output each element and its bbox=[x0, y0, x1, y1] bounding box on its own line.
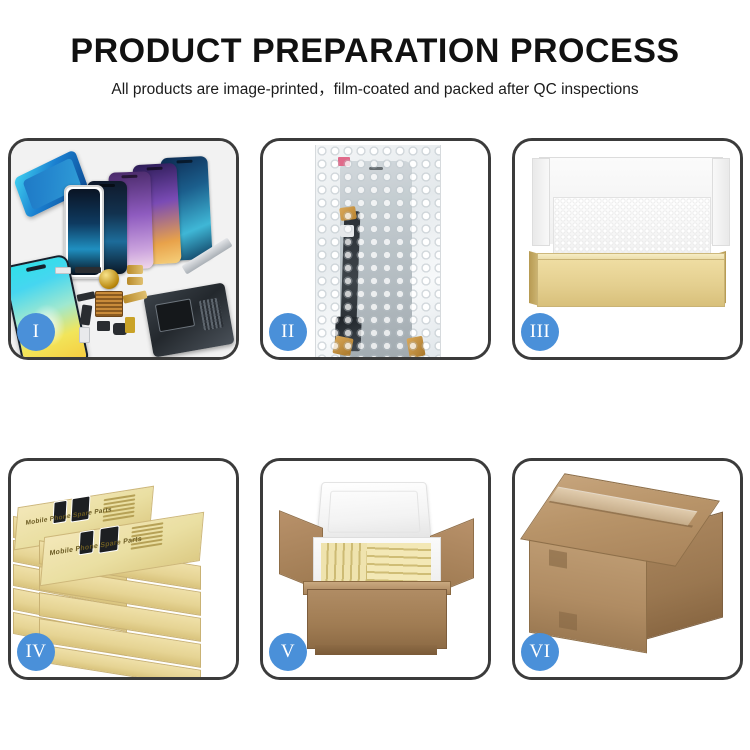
part-mesh bbox=[55, 267, 71, 274]
part-flex-2 bbox=[127, 277, 143, 285]
page-title: PRODUCT PREPARATION PROCESS bbox=[0, 34, 750, 68]
step-badge-2: II bbox=[269, 313, 307, 351]
gold-tape-3-icon bbox=[406, 336, 425, 357]
part-speaker bbox=[75, 267, 101, 273]
part-connector-1 bbox=[76, 291, 95, 302]
bubble-wrap-sleeve bbox=[315, 145, 441, 357]
step-badge-6: VI bbox=[521, 633, 559, 671]
pink-tape-icon bbox=[338, 157, 350, 166]
gold-coil-icon bbox=[99, 269, 119, 289]
step-panel-3: III bbox=[512, 138, 743, 360]
header: PRODUCT PREPARATION PROCESS All products… bbox=[0, 0, 750, 98]
part-button bbox=[97, 321, 110, 331]
step-badge-5: V bbox=[269, 633, 307, 671]
step-badge-4: IV bbox=[17, 633, 55, 671]
carton-tab-2 bbox=[559, 611, 577, 630]
step-panel-1: I bbox=[8, 138, 239, 360]
step-panel-2: II bbox=[260, 138, 491, 360]
step-panel-6: VI bbox=[512, 458, 743, 680]
carton-front-panel bbox=[307, 589, 447, 649]
gold-tape-1-icon bbox=[339, 206, 357, 221]
carton-tab-1 bbox=[549, 549, 567, 568]
part-battery-pin bbox=[79, 327, 90, 343]
gold-tape-2-icon bbox=[332, 335, 353, 356]
part-gold-shield bbox=[125, 317, 135, 333]
step-panel-4: Mobile Phone Spare Parts Mobile Phone Sp… bbox=[8, 458, 239, 680]
box-front-panel bbox=[537, 259, 725, 307]
step-panel-5: V bbox=[260, 458, 491, 680]
carton-bottom-edge bbox=[315, 645, 437, 655]
part-cable-1 bbox=[80, 304, 93, 325]
white-chip-icon bbox=[340, 225, 354, 237]
part-flex-1 bbox=[127, 265, 143, 274]
page-subtitle: All products are image-printed，film-coat… bbox=[0, 82, 750, 98]
foam-lid-icon bbox=[316, 482, 432, 543]
step-badge-1: I bbox=[17, 313, 55, 351]
motherboard-icon bbox=[143, 282, 235, 357]
step-badge-3: III bbox=[521, 313, 559, 351]
phone-screen-1-icon bbox=[64, 185, 104, 279]
part-chip-array bbox=[95, 291, 123, 317]
product-preparation-infographic: PRODUCT PREPARATION PROCESS All products… bbox=[0, 0, 750, 750]
steps-grid: I II bbox=[8, 138, 744, 680]
